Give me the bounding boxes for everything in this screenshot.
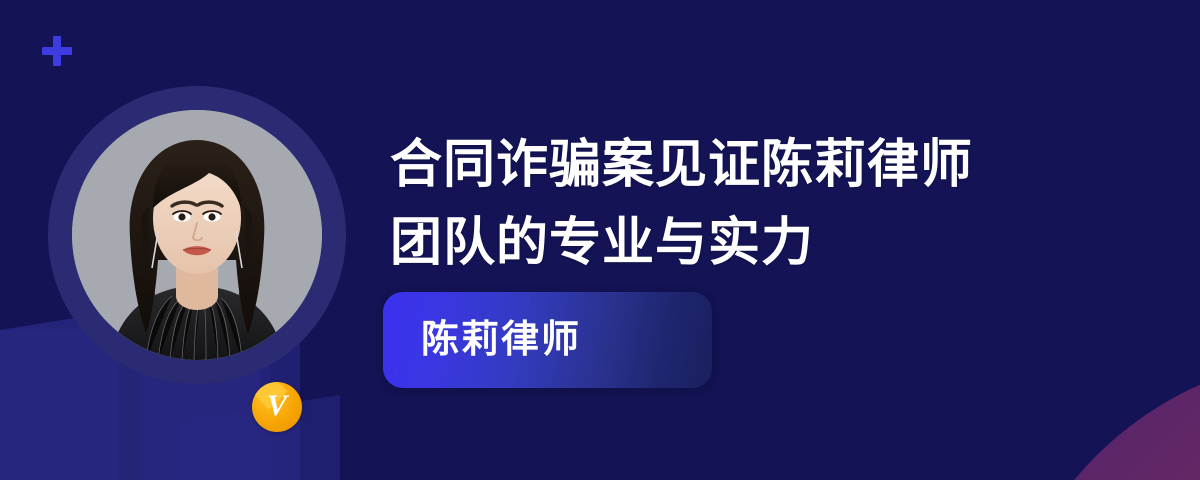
verified-badge-glyph: V (267, 391, 287, 421)
avatar-photo (72, 110, 322, 360)
content-column: 合同诈骗案见证陈莉律师 团队的专业与实力 陈莉律师 (390, 0, 1180, 480)
verified-badge-icon: V (252, 382, 302, 432)
page-title: 合同诈骗案见证陈莉律师 团队的专业与实力 (390, 126, 1090, 282)
avatar: V (48, 86, 346, 384)
lawyer-profile-banner: V 合同诈骗案见证陈莉律师 团队的专业与实力 陈莉律师 (0, 0, 1200, 480)
lawyer-name-label: 陈莉律师 (383, 321, 581, 359)
plus-icon (42, 36, 72, 66)
lawyer-name-badge[interactable]: 陈莉律师 (383, 292, 712, 388)
